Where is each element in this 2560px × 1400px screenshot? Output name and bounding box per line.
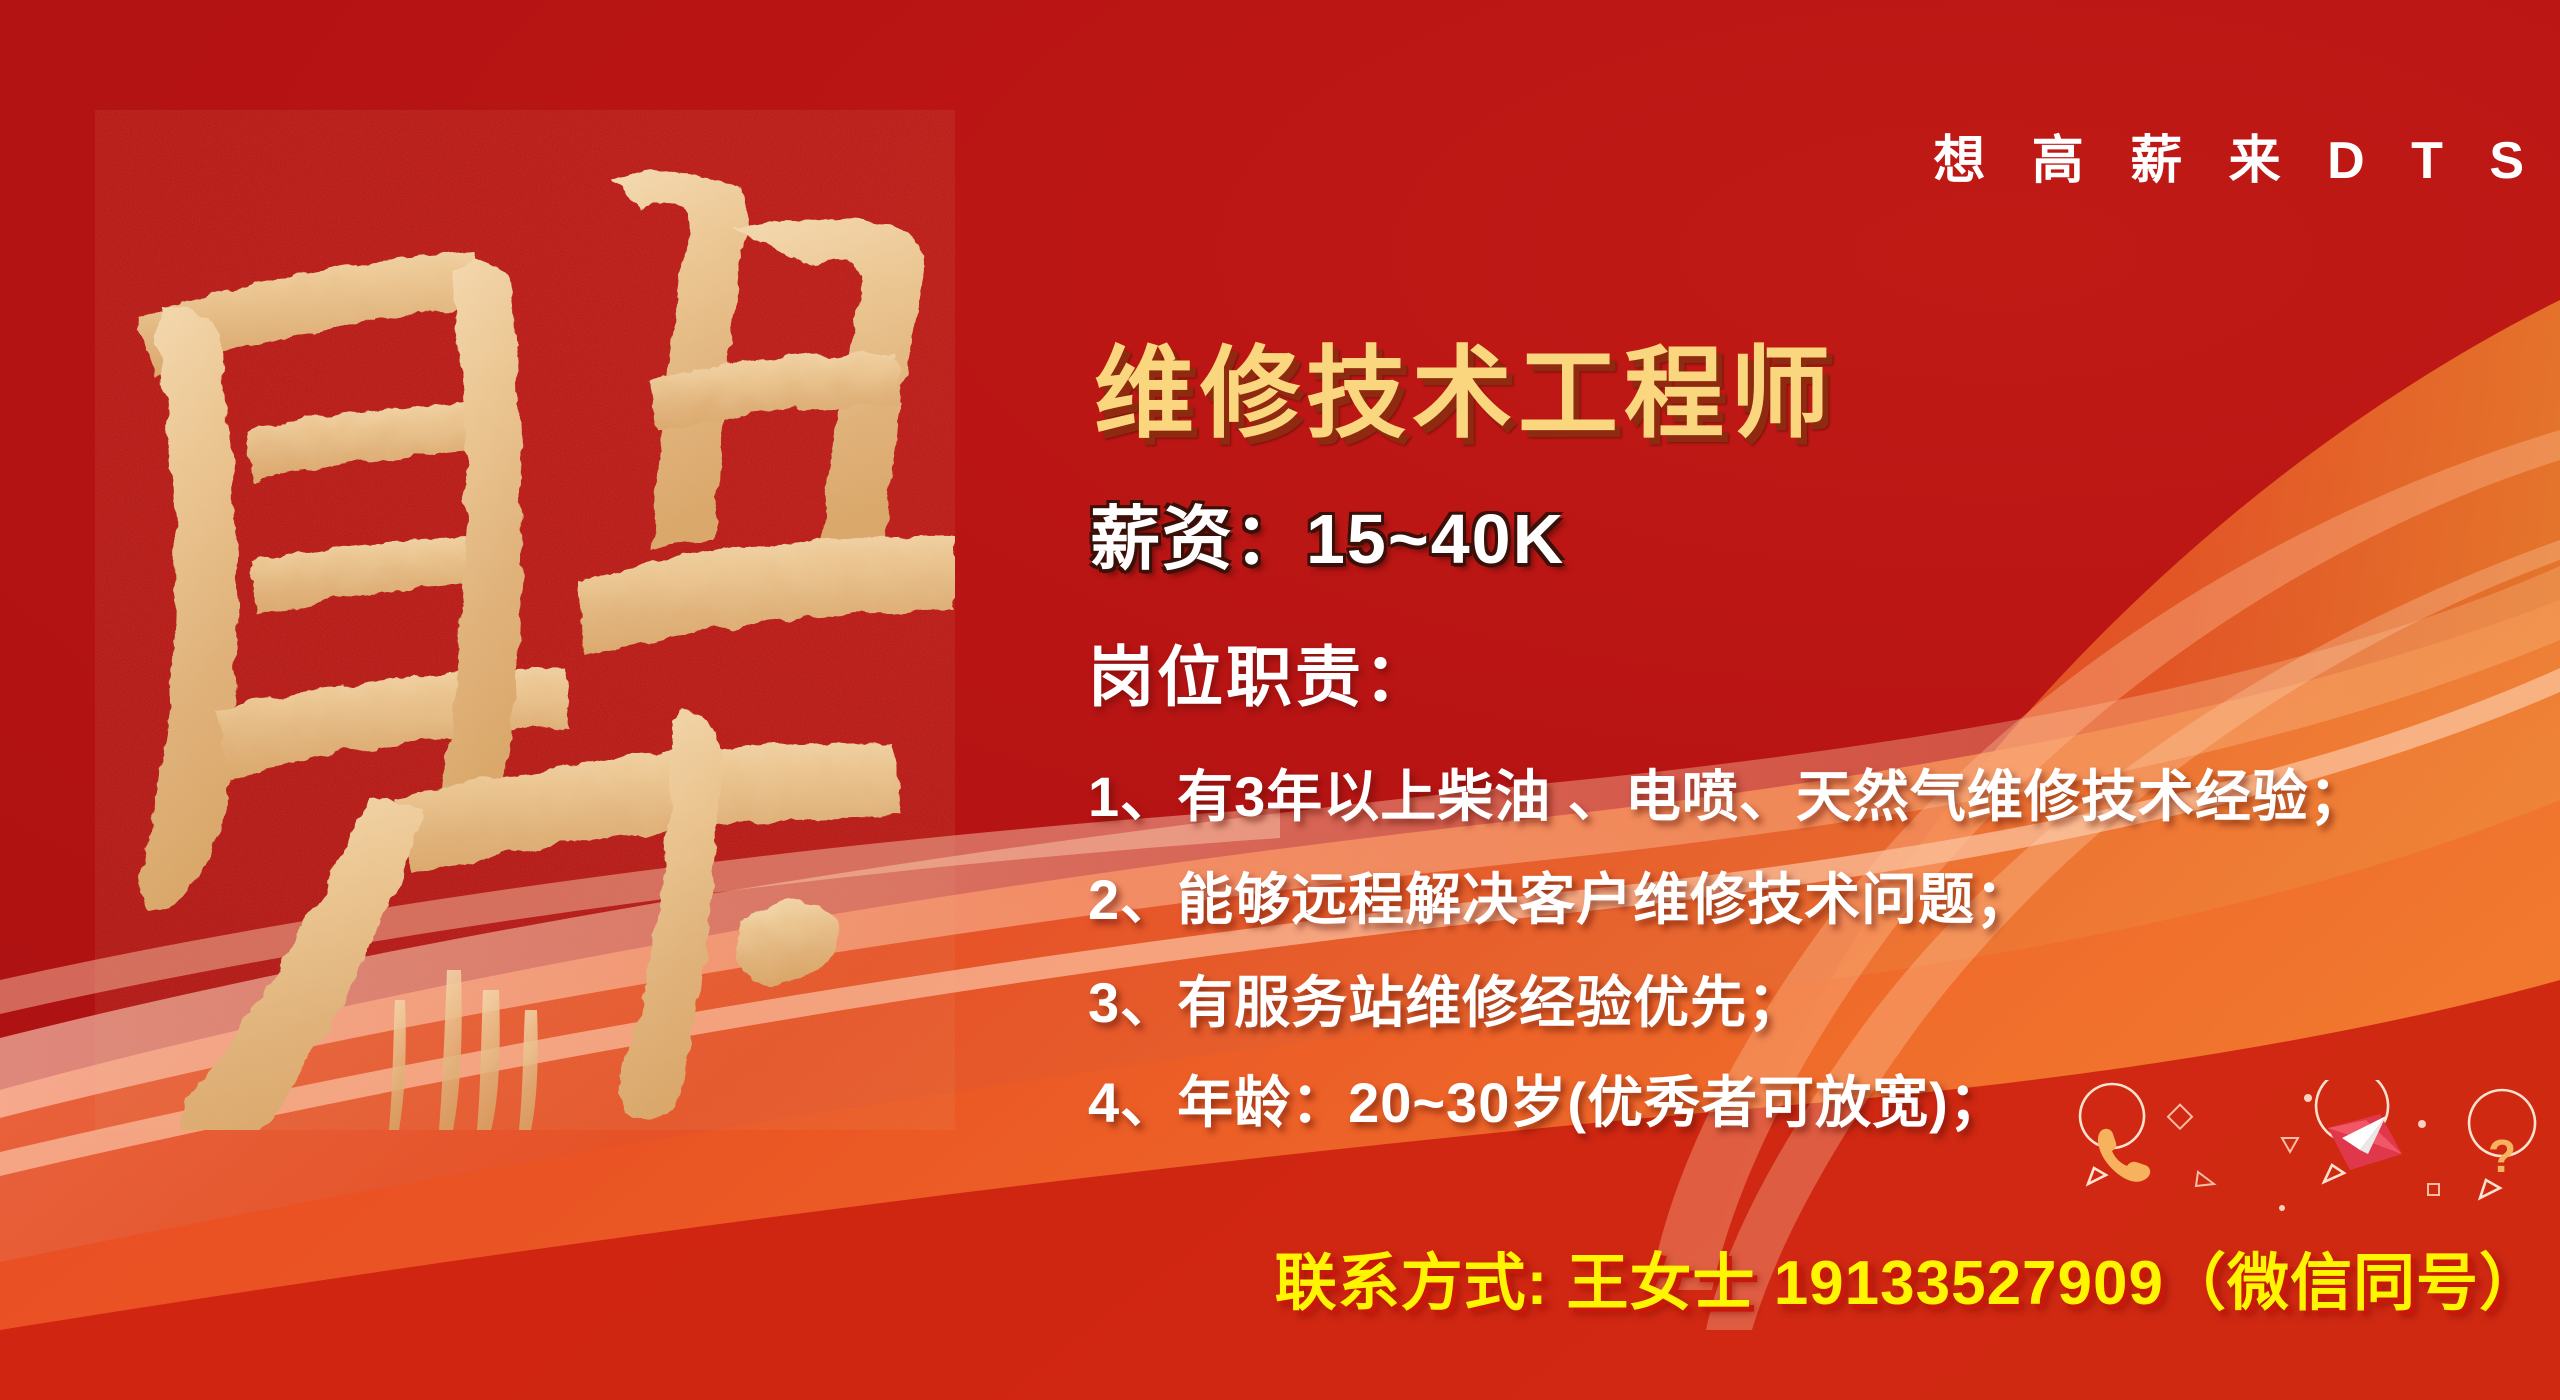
envelope-bubble-icon: [2316, 1080, 2402, 1182]
duty-item: 4、年龄：20~30岁(优秀者可放宽)；: [1088, 1058, 2006, 1139]
recruitment-poster: 想 高 薪 来 D T S 维修技术工程师 薪资：15~40K 岗位职责： 1、…: [0, 0, 2560, 1400]
tagline: 想 高 薪 来 D T S: [1933, 118, 2540, 193]
svg-text:?: ?: [2488, 1130, 2516, 1182]
calligraphy-character-pin: [95, 110, 955, 1130]
job-title: 维修技术工程师: [1094, 312, 1836, 457]
duty-item: 3、有服务站维修经验优先；: [1088, 958, 1804, 1039]
question-bubble-icon: ?: [2469, 1090, 2535, 1198]
phone-bubble-icon: [2080, 1084, 2150, 1184]
duties-heading: 岗位职责：: [1088, 624, 1433, 720]
salary-line: 薪资：15~40K: [1090, 483, 1565, 584]
duty-item: 2、能够远程解决客户维修技术问题；: [1088, 855, 2032, 936]
duty-item: 1、有3年以上柴油 、电喷、天然气维修技术经验；: [1088, 752, 2366, 833]
bubble-icon-group: ?: [2050, 1080, 2560, 1250]
